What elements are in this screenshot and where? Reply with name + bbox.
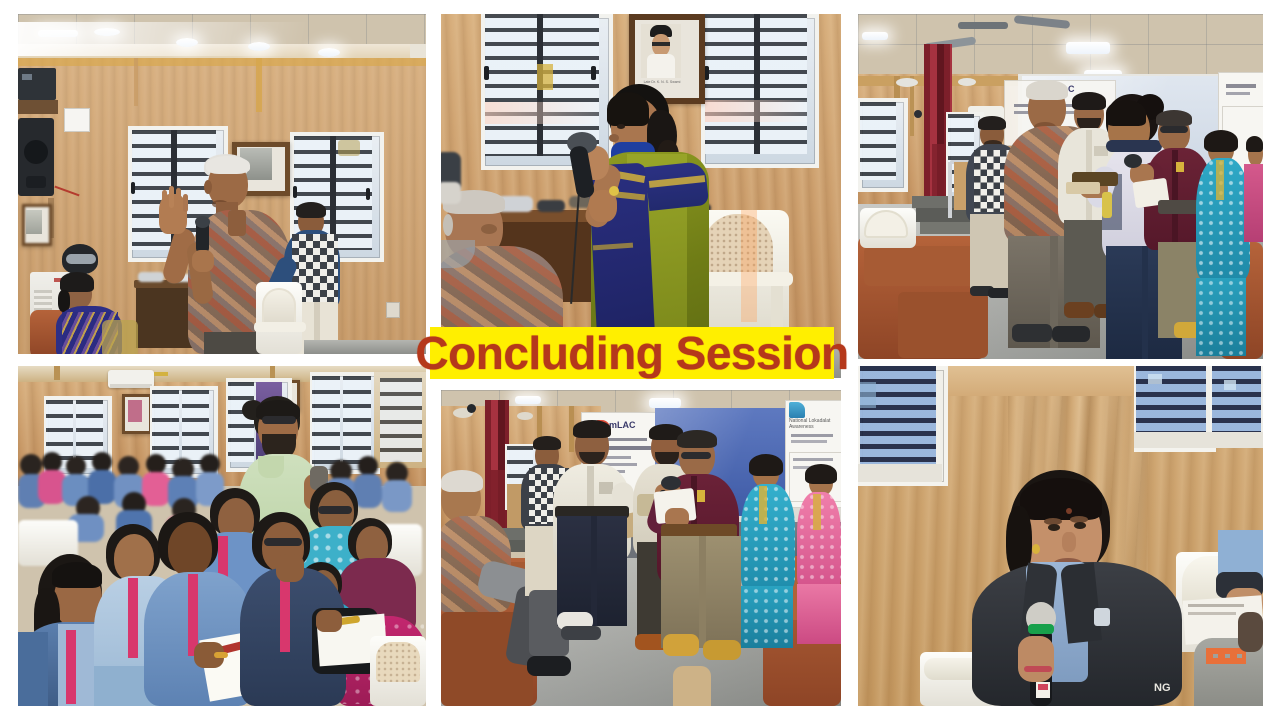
portrait-caption: Late Dr. K. N. S. Swami <box>641 80 683 84</box>
mlac-banner-title: mLAC <box>609 420 636 430</box>
jacket-text: NG <box>1154 682 1171 694</box>
poster-title: National Lokadalat Awareness <box>789 418 839 431</box>
photo-top-right: mLAC <box>858 14 1263 359</box>
poster-logo-icon <box>789 402 805 418</box>
photo-top-center: Late Dr. K. N. S. Swami <box>441 14 841 378</box>
photo-collage: Late Dr. K. N. S. Swami <box>0 0 1280 720</box>
photo-bottom-right: NG <box>858 366 1263 706</box>
photo-bottom-center: mLAC National Lokadalat Awareness <box>441 390 841 706</box>
photo-top-left <box>18 14 426 354</box>
caption-banner: Concluding Session <box>430 327 834 379</box>
caption-text: Concluding Session <box>415 330 848 376</box>
microphone-icon <box>1124 154 1142 168</box>
microphone-icon <box>661 476 681 490</box>
photo-bottom-left <box>18 366 426 706</box>
